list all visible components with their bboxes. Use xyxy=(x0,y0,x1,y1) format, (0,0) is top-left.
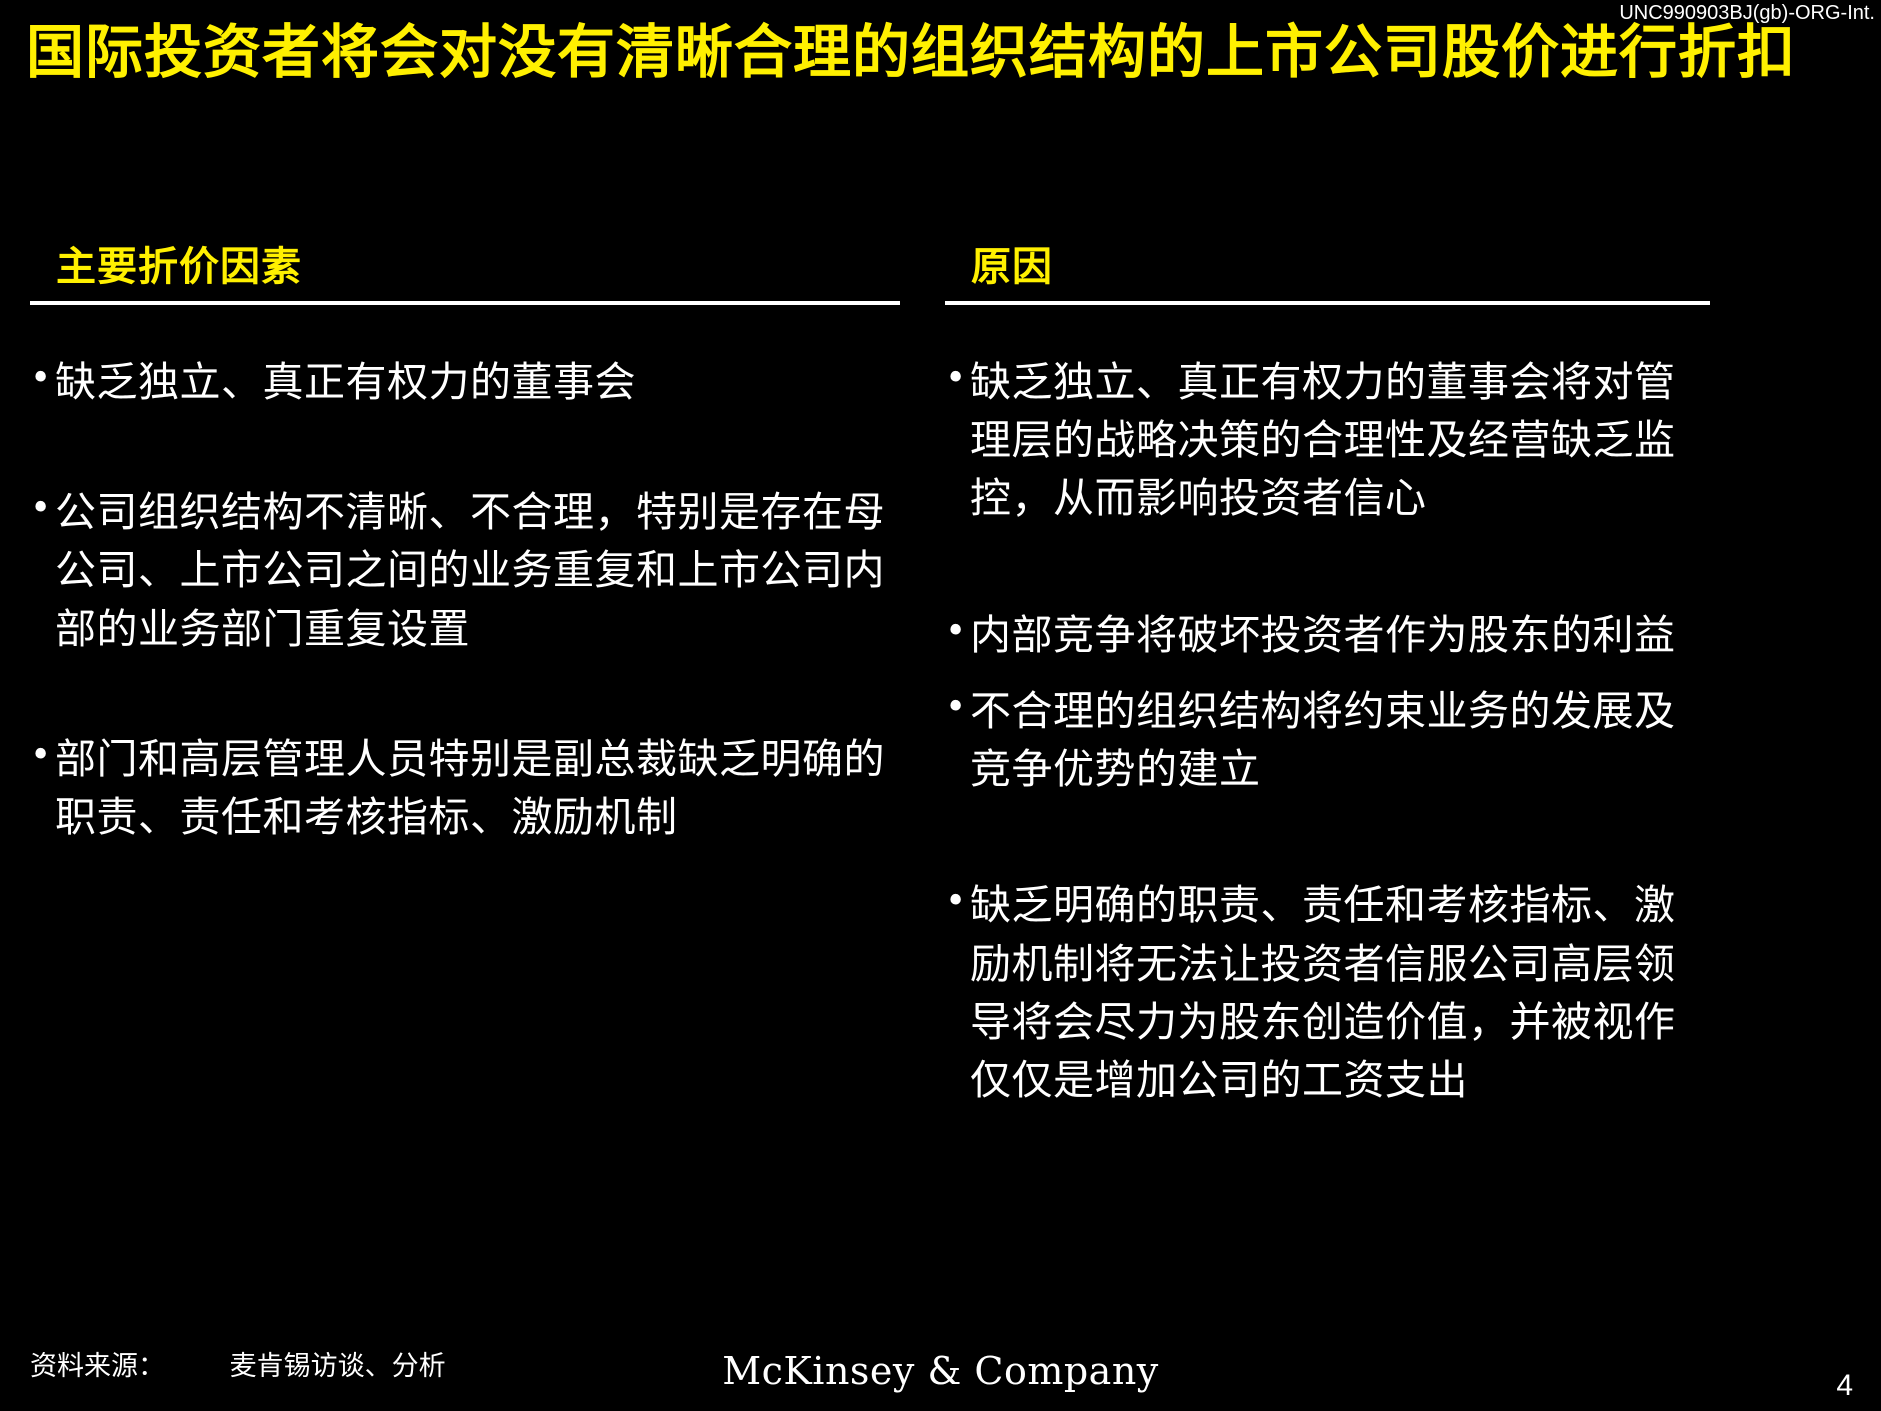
column-reasons: 原因 • 缺乏独立、真正有权力的董事会将对管理层的战略决策的合理性及经营缺乏监控… xyxy=(945,215,1710,1109)
column-left-bullet-list: • 缺乏独立、真正有权力的董事会 • 公司组织结构不清晰、不合理，特别是存在母公… xyxy=(30,353,900,846)
list-item: • 内部竞争将破坏投资者作为股东的利益 xyxy=(945,606,1710,664)
list-item: • 不合理的组织结构将约束业务的发展及竞争优势的建立 xyxy=(945,682,1710,798)
column-discount-factors: 主要折价因素 • 缺乏独立、真正有权力的董事会 • 公司组织结构不清晰、不合理，… xyxy=(30,215,900,846)
list-item-label: 缺乏明确的职责、责任和考核指标、激励机制将无法让投资者信服公司高层领导将会尽力为… xyxy=(970,876,1710,1109)
bullet-icon: • xyxy=(30,483,55,534)
column-left-header: 主要折价因素 xyxy=(30,215,900,287)
list-item-label: 内部竞争将破坏投资者作为股东的利益 xyxy=(970,606,1710,664)
column-right-header: 原因 xyxy=(945,215,1710,287)
source-label: 资料来源： xyxy=(30,1351,165,1382)
column-right-divider xyxy=(945,301,1710,305)
column-right-bullet-list: • 缺乏独立、真正有权力的董事会将对管理层的战略决策的合理性及经营缺乏监控，从而… xyxy=(945,353,1710,1109)
bullet-icon: • xyxy=(30,730,55,781)
bullet-icon: • xyxy=(945,353,970,404)
list-item: • 缺乏明确的职责、责任和考核指标、激励机制将无法让投资者信服公司高层领导将会尽… xyxy=(945,876,1710,1109)
source-note: 资料来源： 麦肯锡访谈、分析 xyxy=(30,1344,446,1383)
mckinsey-logo: McKinsey & Company xyxy=(722,1349,1159,1393)
list-item: • 部门和高层管理人员特别是副总裁缺乏明确的职责、责任和考核指标、激励机制 xyxy=(30,730,900,846)
bullet-icon: • xyxy=(945,876,970,927)
content-columns: 主要折价因素 • 缺乏独立、真正有权力的董事会 • 公司组织结构不清晰、不合理，… xyxy=(0,215,1881,1295)
bullet-icon: • xyxy=(30,353,55,404)
list-item-label: 部门和高层管理人员特别是副总裁缺乏明确的职责、责任和考核指标、激励机制 xyxy=(55,730,900,846)
bullet-icon: • xyxy=(945,682,970,733)
list-item-label: 公司组织结构不清晰、不合理，特别是存在母公司、上市公司之间的业务重复和上市公司内… xyxy=(55,483,900,658)
list-item: • 缺乏独立、真正有权力的董事会将对管理层的战略决策的合理性及经营缺乏监控，从而… xyxy=(945,353,1710,528)
list-item-label: 缺乏独立、真正有权力的董事会将对管理层的战略决策的合理性及经营缺乏监控，从而影响… xyxy=(970,353,1710,528)
bullet-icon: • xyxy=(945,606,970,657)
page-number: 4 xyxy=(1836,1369,1853,1403)
list-item-label: 缺乏独立、真正有权力的董事会 xyxy=(55,353,900,411)
list-item-label: 不合理的组织结构将约束业务的发展及竞争优势的建立 xyxy=(970,682,1710,798)
page-title: 国际投资者将会对没有清晰合理的组织结构的上市公司股价进行折扣 xyxy=(26,18,1846,86)
source-value: 麦肯锡访谈、分析 xyxy=(230,1351,446,1382)
list-item: • 公司组织结构不清晰、不合理，特别是存在母公司、上市公司之间的业务重复和上市公… xyxy=(30,483,900,658)
list-item: • 缺乏独立、真正有权力的董事会 xyxy=(30,353,900,411)
column-left-divider xyxy=(30,301,900,305)
